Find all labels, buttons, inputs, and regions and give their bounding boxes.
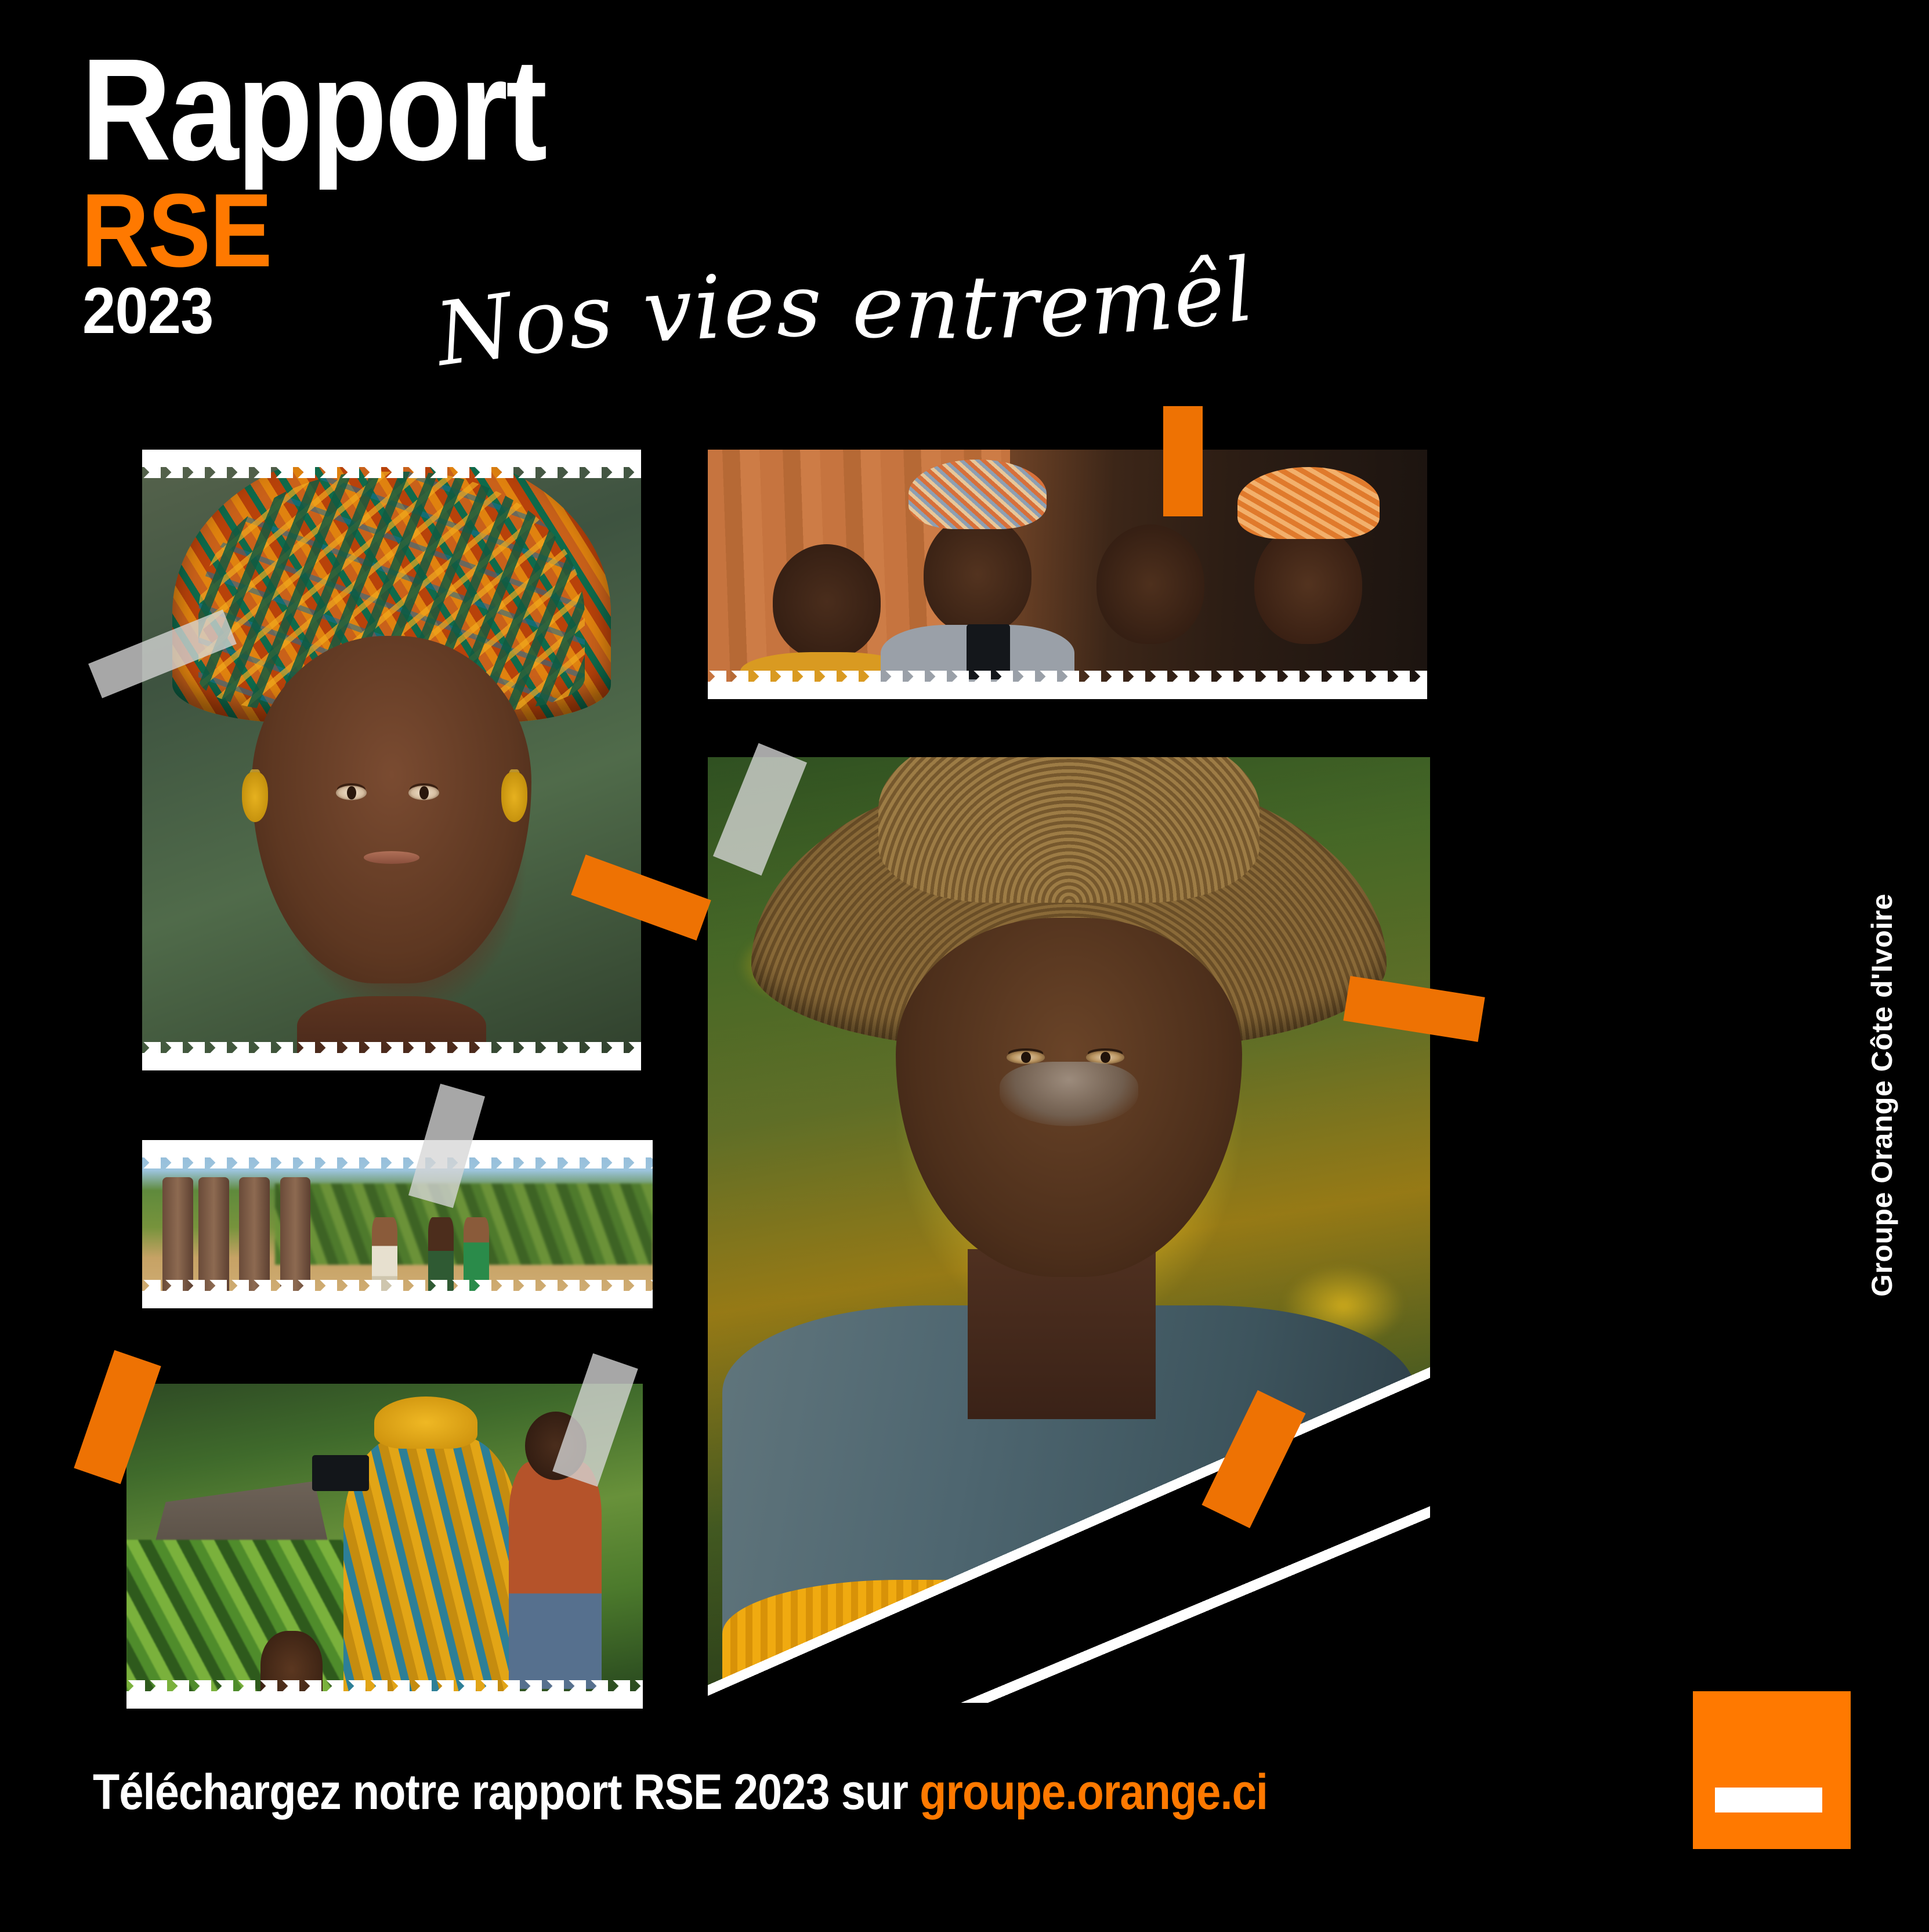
photo-woman-image [142, 450, 641, 1070]
photo-farmer-hat [708, 757, 1430, 1703]
child-boy [773, 544, 881, 659]
orange-logo-bar [1715, 1788, 1822, 1813]
yellow-headwrap [374, 1396, 477, 1449]
woman-wax-wrap [343, 1436, 519, 1709]
woman-eye-left [336, 786, 367, 800]
baobab-trunk-3 [239, 1177, 270, 1295]
tagline-script: Nos vies entremêlées [435, 261, 1276, 389]
child-girl-1 [1096, 524, 1204, 644]
grandmother [924, 515, 1032, 634]
boy-orange-shirt [509, 1461, 602, 1689]
torn-edge-bottom [708, 682, 1427, 699]
torn-edge-bottom [142, 1291, 653, 1308]
woman-eye-right [408, 786, 439, 800]
footer-cta-prefix: Téléchargez notre rapport RSE 2023 sur [93, 1764, 920, 1820]
torn-edge-top [142, 1140, 653, 1157]
camera-icon [312, 1455, 369, 1491]
torn-edge-bottom [142, 1053, 641, 1070]
torn-edge-bottom [126, 1691, 643, 1709]
tape-strip-orange-2 [1163, 406, 1203, 516]
farmer-eye-left [1007, 1051, 1045, 1063]
child-girl-2 [1254, 524, 1362, 644]
photo-baobab-road [142, 1140, 653, 1308]
photo-family-image [708, 450, 1427, 699]
torn-edge-top [142, 450, 641, 467]
footer-cta: Téléchargez notre rapport RSE 2023 sur g… [93, 1764, 1268, 1821]
photo-farmer-image [708, 757, 1430, 1703]
page-title-line1: Rapport [81, 41, 545, 179]
footer-cta-link[interactable]: groupe.orange.ci [920, 1764, 1268, 1820]
woman-face [252, 636, 531, 983]
baobab-trunk-4 [280, 1177, 311, 1295]
page-title-line2: RSE [81, 179, 272, 283]
earring-left [242, 772, 268, 822]
farmer-beard [1000, 1062, 1138, 1126]
woven-basket [997, 1599, 1214, 1703]
baobab-trunk-1 [162, 1177, 193, 1295]
woman-lips [364, 851, 419, 864]
vertical-credit-label: Groupe Orange Côte d'Ivoire [1865, 893, 1899, 1297]
baobab-trunk-2 [198, 1177, 229, 1295]
photo-woman-headwrap [142, 450, 641, 1070]
page-title-year: 2023 [82, 278, 213, 343]
poster-canvas: Rapport RSE 2023 Nos vies entremêlées [0, 0, 1929, 1932]
tagline-text: Nos vies entremêlées [409, 181, 1260, 386]
photo-family-phone [708, 450, 1427, 699]
tagline-svg: Nos vies entremêlées [435, 261, 1276, 389]
header: Rapport RSE 2023 Nos vies entremêlées [81, 41, 1300, 389]
earring-right [501, 772, 527, 822]
orange-logo[interactable] [1693, 1691, 1851, 1849]
